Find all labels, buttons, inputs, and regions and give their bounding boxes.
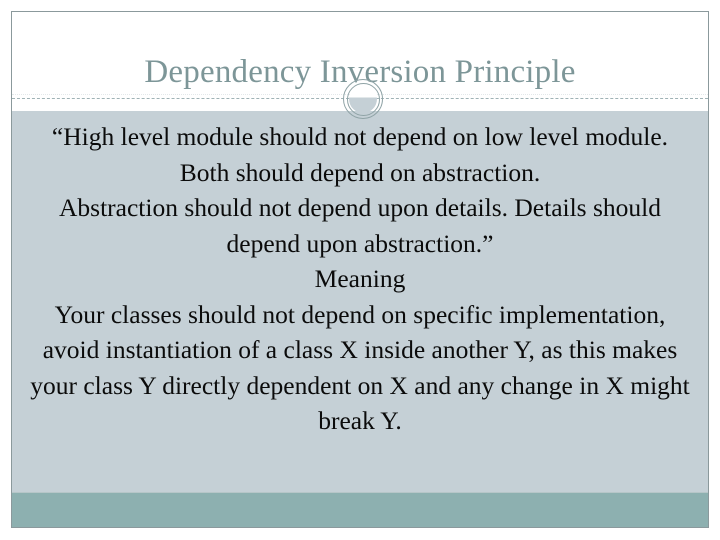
quote-part-1: “High level module should not depend on … [26,119,694,190]
meaning-body: Your classes should not depend on specif… [26,297,694,439]
body-panel: “High level module should not depend on … [12,111,708,527]
ring-inner-fill [349,85,377,113]
content-block: “High level module should not depend on … [26,119,694,439]
bottom-accent-band [12,492,708,527]
quote-part-2: Abstraction should not depend upon detai… [26,190,694,261]
slide: Dependency Inversion Principle “High lev… [11,11,709,528]
circle-ring-decoration-icon [343,79,383,119]
meaning-heading: Meaning [26,261,694,297]
